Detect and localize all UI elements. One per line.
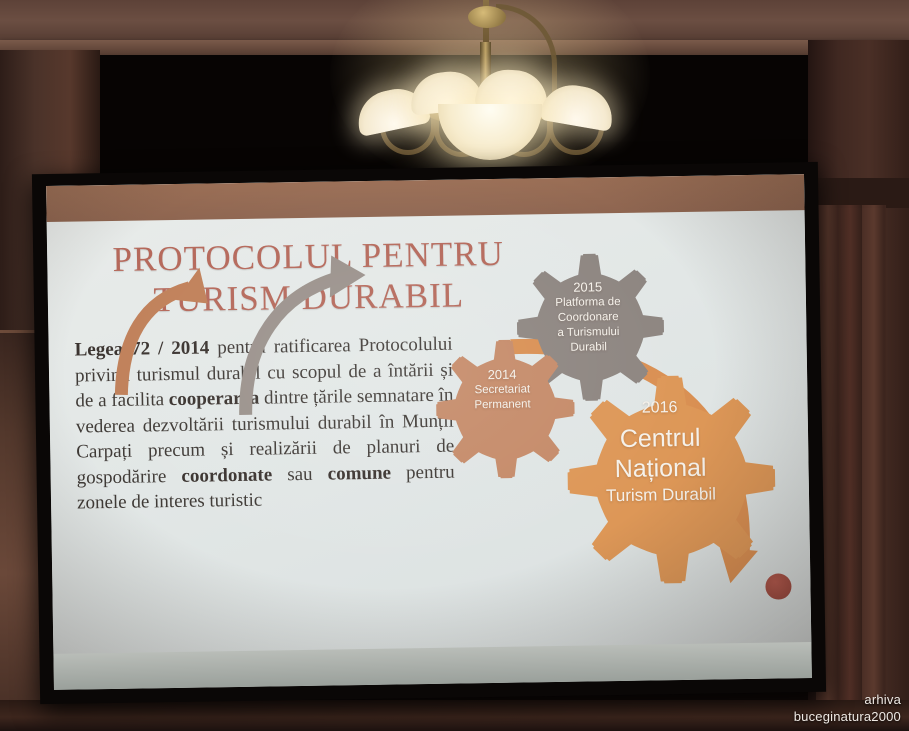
gear-diagram: 2015 Platforma de Coordonare a Turismulu… bbox=[46, 174, 811, 656]
arrow-to-2015-head bbox=[329, 255, 366, 298]
projection-screen: PROTOCOLUL PENTRU TURISM DURABIL Legea 7… bbox=[32, 162, 826, 704]
watermark: arhiva buceginatura2000 bbox=[794, 691, 901, 725]
curtain bbox=[816, 205, 886, 705]
arrow-to-2014-icon bbox=[120, 288, 192, 395]
gear-diagram-svg bbox=[46, 174, 811, 656]
arrow-to-2015-icon bbox=[244, 277, 342, 414]
floor-strip bbox=[0, 700, 909, 731]
projection-screen-surface: PROTOCOLUL PENTRU TURISM DURABIL Legea 7… bbox=[46, 174, 812, 690]
watermark-line1: arhiva bbox=[794, 691, 901, 708]
watermark-line2: buceginatura2000 bbox=[794, 708, 901, 725]
presentation-slide: PROTOCOLUL PENTRU TURISM DURABIL Legea 7… bbox=[46, 174, 811, 656]
chandelier-canopy bbox=[468, 6, 506, 28]
chandelier bbox=[350, 0, 630, 158]
room-photo: PROTOCOLUL PENTRU TURISM DURABIL Legea 7… bbox=[0, 0, 909, 731]
